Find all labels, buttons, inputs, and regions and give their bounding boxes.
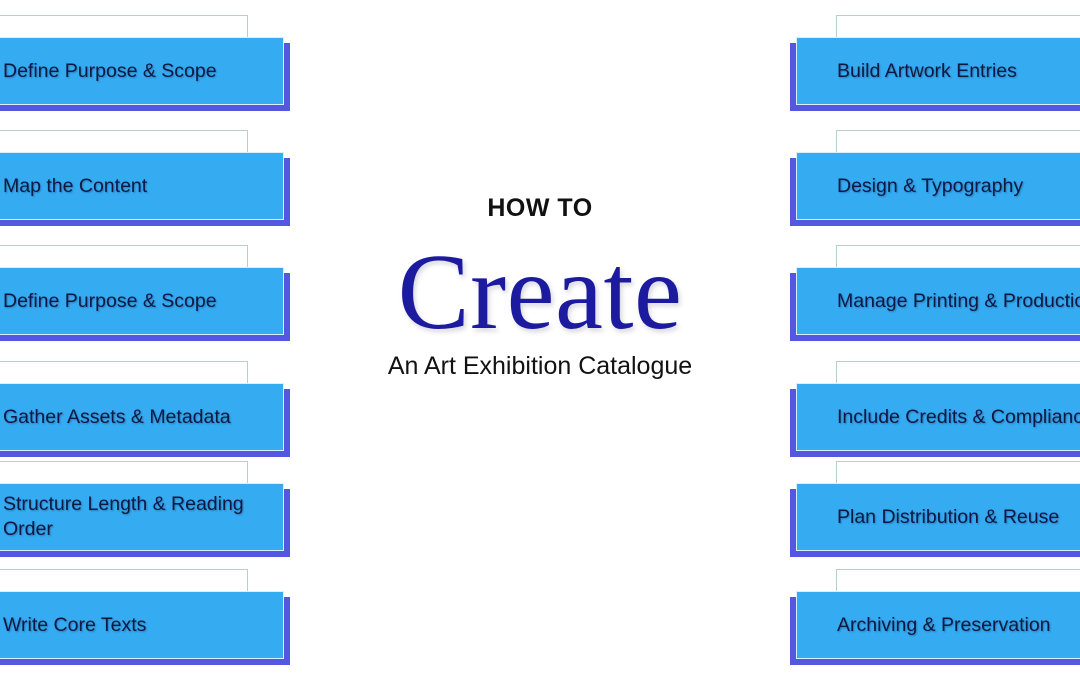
node-chip[interactable]: Plan Distribution & Reuse bbox=[796, 483, 1080, 551]
node-chip[interactable]: Define Purpose & Scope bbox=[0, 37, 284, 105]
node-chip[interactable]: Define Purpose & Scope bbox=[0, 267, 284, 335]
node-label: Build Artwork Entries bbox=[797, 59, 1027, 84]
node-chip[interactable]: Gather Assets & Metadata bbox=[0, 383, 284, 451]
node-label: Write Core Texts bbox=[0, 613, 156, 638]
node-label: Define Purpose & Scope bbox=[0, 59, 227, 84]
node-label: Archiving & Preservation bbox=[797, 613, 1061, 638]
node-chip[interactable]: Archiving & Preservation bbox=[796, 591, 1080, 659]
node-label: Define Purpose & Scope bbox=[0, 289, 227, 314]
node-chip[interactable]: Map the Content bbox=[0, 152, 284, 220]
node-label: Gather Assets & Metadata bbox=[0, 405, 241, 430]
node-label: Plan Distribution & Reuse bbox=[797, 505, 1069, 530]
node-label: Design & Typography bbox=[797, 174, 1033, 199]
node-chip[interactable]: Write Core Texts bbox=[0, 591, 284, 659]
node-label: Structure Length & Reading Order bbox=[0, 492, 254, 542]
headline-text: Create bbox=[310, 239, 770, 347]
node-chip[interactable]: Include Credits & Compliance bbox=[796, 383, 1080, 451]
infographic-canvas: Define Purpose & Scope Map the Content D… bbox=[0, 0, 1080, 675]
center-title-block: HOW TO Create An Art Exhibition Catalogu… bbox=[310, 196, 770, 381]
node-chip[interactable]: Build Artwork Entries bbox=[796, 37, 1080, 105]
subtitle-text: An Art Exhibition Catalogue bbox=[310, 353, 770, 381]
node-chip[interactable]: Structure Length & Reading Order bbox=[0, 483, 284, 551]
node-label: Map the Content bbox=[0, 174, 157, 199]
node-label: Manage Printing & Production bbox=[797, 289, 1080, 314]
node-chip[interactable]: Design & Typography bbox=[796, 152, 1080, 220]
node-label: Include Credits & Compliance bbox=[797, 405, 1080, 430]
kicker-text: HOW TO bbox=[310, 196, 770, 221]
node-chip[interactable]: Manage Printing & Production bbox=[796, 267, 1080, 335]
